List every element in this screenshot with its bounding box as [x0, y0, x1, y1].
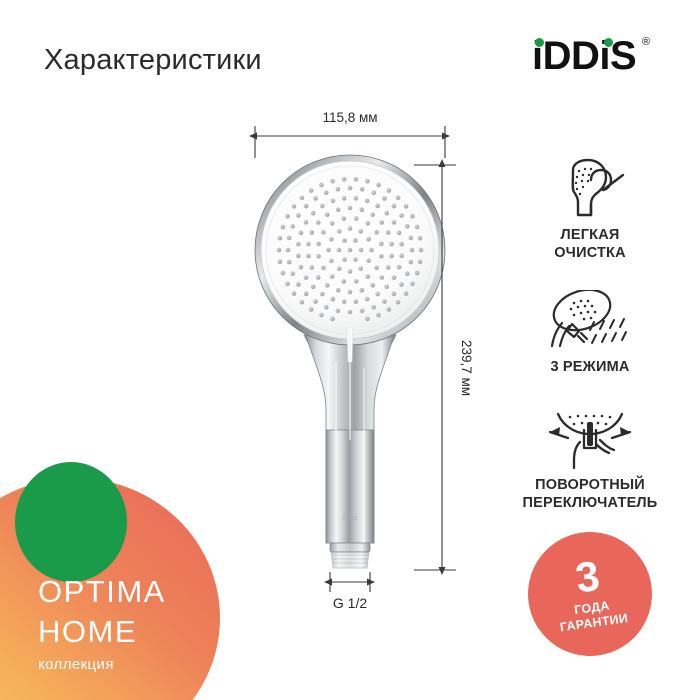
collection-text: OPTIMA HOME коллекция: [38, 572, 166, 673]
collection-name-line2: HOME: [38, 612, 166, 652]
collection-branding: OPTIMA HOME коллекция: [0, 450, 250, 700]
registered-trademark-icon: ®: [642, 36, 650, 48]
feature-rotary-switch: ПОВОРОТНЫЙ ПЕРЕКЛЮЧАТЕЛЬ: [495, 408, 685, 512]
feature-three-modes-label: 3 РЕЖИМА: [495, 358, 685, 376]
collection-name-line1: OPTIMA: [38, 572, 166, 612]
rotary-switch-icon: [495, 408, 685, 470]
width-dimension-label: 115,8 мм: [322, 110, 377, 125]
height-dimension-label: 239,7 мм: [459, 340, 474, 396]
feature-easy-cleaning: ЛЕГКАЯ ОЧИСТКА: [495, 158, 685, 262]
svg-text:iddis: iddis: [343, 515, 358, 522]
feature-rotary-switch-label: ПОВОРОТНЫЙ ПЕРЕКЛЮЧАТЕЛЬ: [495, 476, 685, 512]
warranty-badge: 3 ГОДА ГАРАНТИИ: [520, 524, 660, 664]
warranty-years: 3: [573, 556, 602, 599]
collection-green-circle: [15, 462, 127, 582]
feature-easy-cleaning-label: ЛЕГКАЯ ОЧИСТКА: [495, 226, 685, 262]
feature-three-modes: 3 РЕЖИМА: [495, 290, 685, 376]
warranty-label-line2: ГАРАНТИИ: [559, 611, 629, 635]
product-spec-page: Характеристики iDDiS ®: [0, 0, 700, 700]
brand-logo-dot-first-i: [535, 38, 544, 47]
brand-logo-text: iDDiS: [532, 36, 636, 76]
thread-dimension-label: G 1/2: [333, 595, 367, 611]
collection-subtitle: коллекция: [38, 656, 166, 673]
showerhead-spray-icon: [495, 290, 685, 352]
page-title: Характеристики: [44, 44, 262, 77]
hand-wiping-showerhead-icon: [495, 158, 685, 220]
brand-logo: iDDiS ®: [532, 36, 672, 82]
width-dimension: [255, 126, 445, 158]
thread-dimension: [330, 572, 370, 592]
brand-logo-dot-second-i: [604, 38, 613, 47]
